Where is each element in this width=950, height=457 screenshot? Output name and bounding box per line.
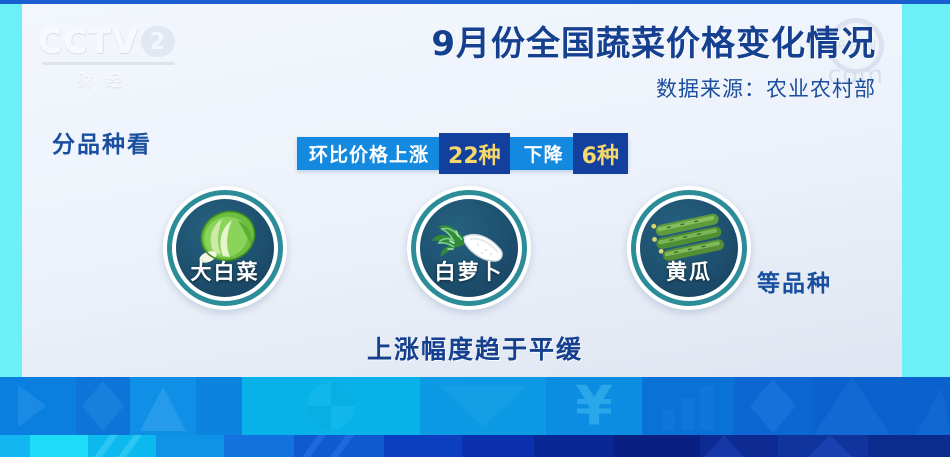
- band-cell: [642, 377, 734, 435]
- band-cell: [30, 435, 88, 457]
- band-cell: [294, 435, 384, 457]
- vegetable-medallion-radish: 白萝卜: [407, 186, 531, 310]
- chevron-right-glyph: [0, 377, 76, 435]
- vegetable-name: 大白菜: [191, 256, 260, 297]
- band-cell: [0, 377, 76, 435]
- triangle-glyph: [812, 377, 950, 435]
- band-base-row: [0, 435, 950, 457]
- triangle-glyph: [700, 435, 778, 457]
- medallion-core: 大白菜: [176, 199, 274, 297]
- summary-caption: 上涨幅度趋于平缓: [0, 330, 950, 366]
- medallion-core: 黄瓜: [640, 199, 738, 297]
- medallion-core: 白萝卜: [420, 199, 518, 297]
- rise-value-chip: 22种: [439, 133, 510, 174]
- channel-name-label: 财经: [38, 67, 175, 91]
- logo-underline: [42, 62, 175, 65]
- band-cell: [534, 435, 614, 457]
- band-cell: ¥: [546, 377, 642, 435]
- band-cell: [700, 435, 778, 457]
- triangle-glyph: [778, 435, 868, 457]
- band-cell: [614, 435, 700, 457]
- medallion-ring: 白萝卜: [411, 190, 527, 306]
- lower-decorative-band: ¥: [0, 377, 950, 457]
- band-cell: [130, 377, 196, 435]
- category-label: 分品种看: [52, 125, 152, 159]
- stripe-glyph: [294, 435, 384, 457]
- cctv-channel-logo: CCTV 2 财经: [38, 22, 175, 91]
- left-edge-accent: [0, 0, 22, 377]
- medallion-ring: 大白菜: [167, 190, 283, 306]
- rise-label: 环比价格上涨: [297, 137, 439, 170]
- headline-block: 9月份全国蔬菜价格变化情况 数据来源：农业农村部: [431, 24, 876, 103]
- chevron-down-glyph: [435, 381, 531, 431]
- bar-chart-glyph: [656, 382, 720, 430]
- right-edge-accent: [902, 0, 950, 377]
- fall-value-chip: 6种: [573, 133, 628, 174]
- band-cell: [778, 435, 868, 457]
- page-title: 9月份全国蔬菜价格变化情况: [431, 24, 876, 64]
- diamond-glyph: [734, 377, 812, 435]
- price-change-banner: 环比价格上涨 22种 下降 6种: [297, 137, 628, 170]
- band-cell: [0, 435, 30, 457]
- channel-number-badge: 2: [141, 26, 175, 57]
- band-cell: [196, 377, 242, 435]
- yen-glyph: ¥: [575, 377, 613, 435]
- band-cell: [156, 435, 224, 457]
- stripe-glyph: [88, 435, 156, 457]
- band-cell: [812, 377, 950, 435]
- pie-chart-glyph: [302, 379, 360, 433]
- vegetable-medallion-cucumber: 黄瓜: [627, 186, 751, 310]
- fall-label: 下降: [510, 137, 573, 170]
- top-accent-rule: [0, 0, 950, 4]
- band-cell: [868, 435, 950, 457]
- band-main-row: ¥: [0, 377, 950, 435]
- vegetable-medallion-cabbage: 大白菜: [163, 186, 287, 310]
- band-cell: [734, 377, 812, 435]
- band-cell: [462, 435, 534, 457]
- vegetable-name: 黄瓜: [666, 256, 712, 297]
- cctv-wordmark: CCTV: [38, 22, 139, 61]
- etc-varieties-label: 等品种: [757, 264, 832, 298]
- band-cell: [88, 435, 156, 457]
- diamond-glyph: [76, 377, 130, 435]
- medallion-ring: 黄瓜: [631, 190, 747, 306]
- broadcast-graphic: CCTV 2 财经 央视网 com 9月份全国蔬菜价格变化情况 数据来源：农业农…: [0, 0, 950, 457]
- triangle-up-glyph: [130, 377, 196, 435]
- data-source-label: 数据来源：农业农村部: [431, 73, 876, 103]
- band-cell: [76, 377, 130, 435]
- vegetable-name: 白萝卜: [435, 256, 504, 297]
- band-cell: [224, 435, 294, 457]
- band-cell: [420, 377, 546, 435]
- band-cell: [242, 377, 420, 435]
- band-cell: [384, 435, 462, 457]
- logo-row: CCTV 2: [38, 22, 175, 61]
